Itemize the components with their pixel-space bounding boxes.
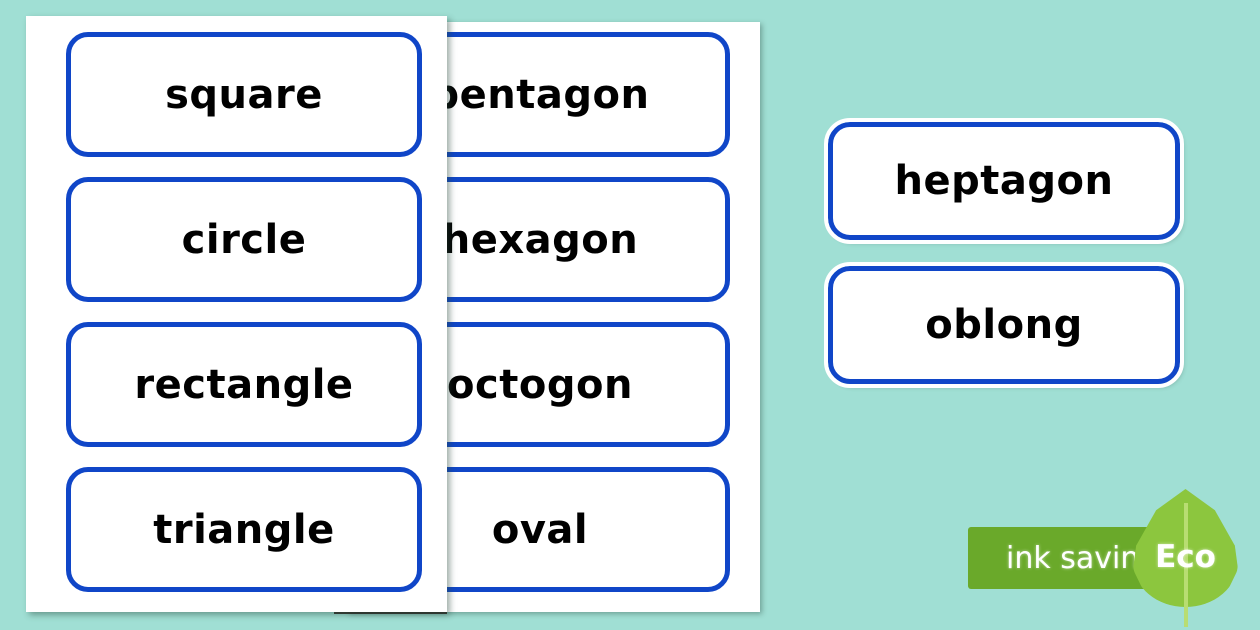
word-card-label: oblong bbox=[925, 305, 1082, 345]
word-card-circle[interactable]: circle bbox=[66, 177, 422, 302]
word-card-square[interactable]: square bbox=[66, 32, 422, 157]
word-card-triangle[interactable]: triangle bbox=[66, 467, 422, 592]
word-card-hexagon[interactable]: hexagon bbox=[447, 177, 730, 302]
word-card-oblong[interactable]: oblong bbox=[828, 266, 1180, 384]
word-card-label: heptagon bbox=[895, 161, 1114, 201]
worksheet-spread: pentagon hexagon octogon oval square cir… bbox=[0, 0, 790, 630]
ink-saving-eco-badge: ink saving Eco bbox=[968, 527, 1260, 589]
word-card-octogon[interactable]: octogon bbox=[447, 322, 730, 447]
word-card-label: hexagon bbox=[447, 220, 638, 260]
word-card-pentagon[interactable]: pentagon bbox=[447, 32, 730, 157]
word-card-label: circle bbox=[182, 220, 307, 260]
word-card-label: pentagon bbox=[447, 75, 649, 115]
word-card-oval[interactable]: oval bbox=[447, 467, 730, 592]
word-card-label: oval bbox=[492, 510, 588, 550]
word-card-label: square bbox=[165, 75, 323, 115]
word-card-heptagon[interactable]: heptagon bbox=[828, 122, 1180, 240]
word-card-label: rectangle bbox=[134, 365, 353, 405]
right-column-clip: pentagon hexagon octogon oval bbox=[447, 22, 760, 612]
word-card-rectangle[interactable]: rectangle bbox=[66, 322, 422, 447]
left-column: square circle rectangle triangle bbox=[66, 32, 422, 610]
eco-badge-leaf-label: Eco bbox=[1133, 539, 1238, 575]
word-card-label: octogon bbox=[447, 365, 633, 405]
right-column: pentagon hexagon octogon oval bbox=[447, 32, 730, 610]
word-card-label: triangle bbox=[153, 510, 335, 550]
leaf-icon: Eco bbox=[1133, 489, 1238, 629]
